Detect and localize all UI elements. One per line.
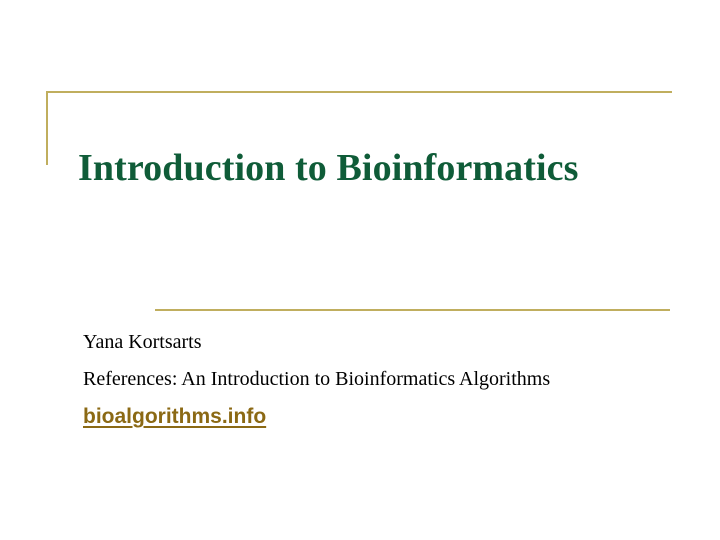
author-line: Yana Kortsarts	[83, 328, 643, 357]
slide-canvas: Introduction to Bioinformatics Yana Kort…	[0, 0, 720, 540]
bioalgorithms-link[interactable]: bioalgorithms.info	[83, 404, 266, 430]
slide-title: Introduction to Bioinformatics	[78, 143, 678, 193]
slide-body: Yana Kortsarts References: An Introducti…	[83, 328, 643, 430]
content-divider-rule	[155, 309, 670, 311]
references-line: References: An Introduction to Bioinform…	[83, 365, 613, 394]
